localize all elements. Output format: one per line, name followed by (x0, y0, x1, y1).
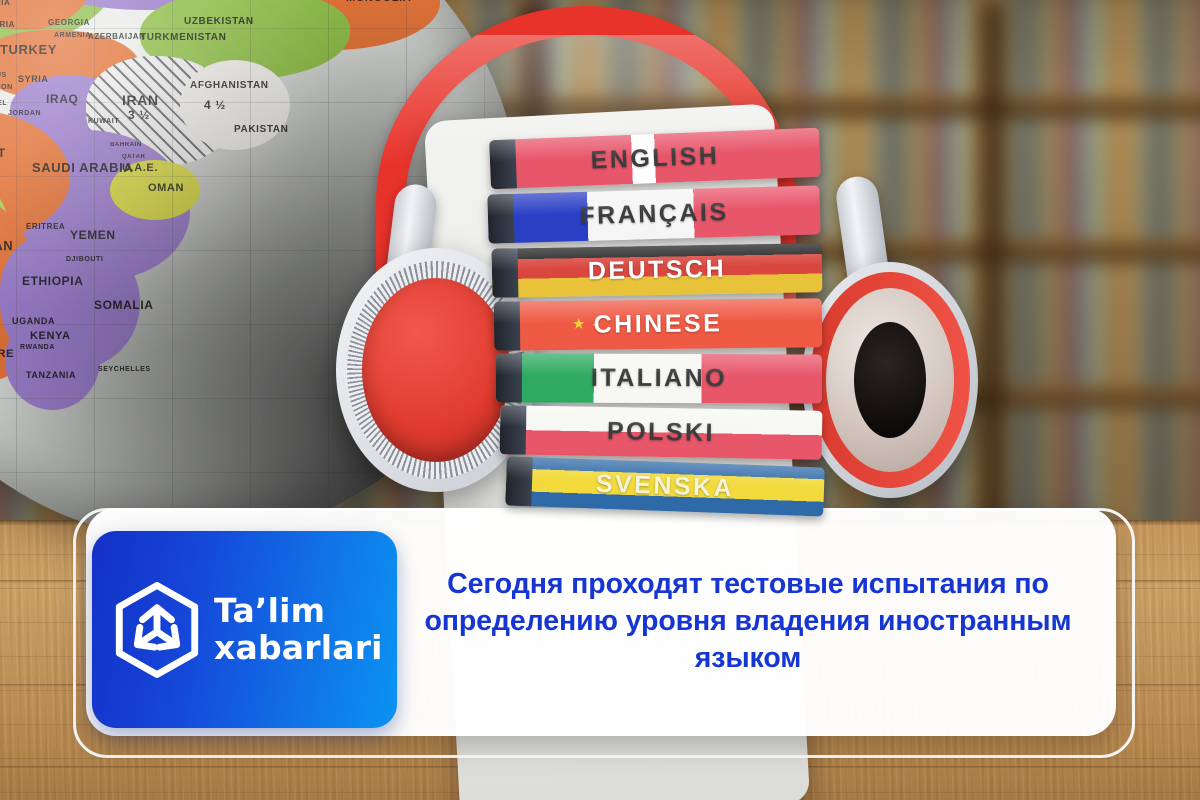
brand-name-line2: xabarlari (214, 630, 383, 667)
book-polski: POLSKI (500, 405, 823, 460)
book-gloss-highlight (496, 353, 822, 376)
earcup-red-plate (362, 278, 510, 462)
poster-canvas: RUSSIANovosibirskPerm’OmskMoscowSamaraPO… (0, 0, 1200, 800)
language-book-stack: ENGLISHFRANÇAISDEUTSCH★ ·˙CHINESEITALIAN… (452, 86, 822, 506)
book-chinese: ★ ·˙CHINESE (494, 298, 822, 350)
brand-name: Ta’lim xabarlari (214, 593, 383, 667)
book-italiano: ITALIANO (496, 353, 822, 403)
book-gloss-highlight (494, 298, 822, 323)
book-deutsch: DEUTSCH (492, 243, 823, 298)
headline-text: Сегодня проходят тестовые испытания по о… (412, 566, 1084, 677)
headphone-earcup-right (802, 262, 978, 498)
shelf-post (980, 0, 1006, 560)
cube-arrows-logo-icon (114, 582, 200, 678)
book-franais: FRANÇAIS (487, 185, 820, 243)
brand-logo-badge[interactable]: Ta’lim xabarlari (92, 531, 397, 728)
brand-name-line1: Ta’lim (214, 593, 383, 630)
earcup-opening (854, 322, 926, 438)
